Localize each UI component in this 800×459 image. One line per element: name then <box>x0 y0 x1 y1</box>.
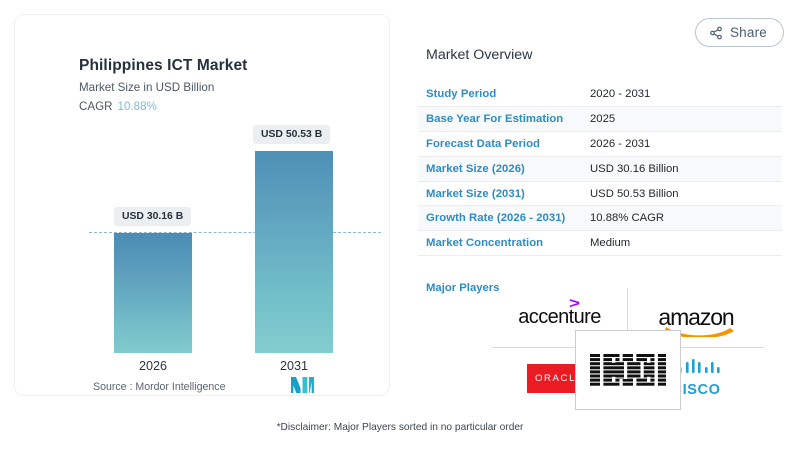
share-button[interactable]: Share <box>695 18 784 47</box>
row-key: Market Concentration <box>418 237 590 249</box>
row-key: Market Size (2031) <box>418 188 590 200</box>
mordor-intelligence-logo <box>291 377 315 398</box>
bar-2031 <box>255 151 333 353</box>
row-value: 2025 <box>590 113 615 125</box>
table-row: Study Period 2020 - 2031 <box>418 82 782 107</box>
xtick-2031: 2031 <box>255 359 333 373</box>
cagr-label: CAGR <box>79 100 113 113</box>
major-players-label: Major Players <box>426 282 499 294</box>
chart-plot-area: USD 30.16 B USD 50.53 B 2026 2031 <box>29 115 391 355</box>
row-value: USD 50.53 Billion <box>590 188 679 200</box>
chart-card: Philippines ICT Market Market Size in US… <box>14 14 390 396</box>
row-value: Medium <box>590 237 630 249</box>
xtick-2026: 2026 <box>114 359 192 373</box>
accenture-logo: accenture > <box>518 306 600 329</box>
table-row: Forecast Data Period 2026 - 2031 <box>418 132 782 157</box>
share-icon <box>709 26 723 40</box>
chart-title: Philippines ICT Market <box>79 57 247 75</box>
disclaimer-text: *Disclaimer: Major Players sorted in no … <box>0 422 800 433</box>
accenture-wordmark: accenture <box>518 306 600 328</box>
major-players-logo-grid: accenture > amazon ORACLE <box>492 288 764 408</box>
row-value: 2020 - 2031 <box>590 88 650 100</box>
row-key: Study Period <box>418 88 590 100</box>
screenshot-root: Share Philippines ICT Market Market Size… <box>0 0 800 459</box>
table-row: Market Size (2026) USD 30.16 Billion <box>418 157 782 182</box>
cagr-value: 10.88% <box>118 100 157 113</box>
logo-cell-ibm <box>575 330 681 410</box>
table-row: Base Year For Estimation 2025 <box>418 107 782 132</box>
row-key: Base Year For Estimation <box>418 113 590 125</box>
row-key: Market Size (2026) <box>418 163 590 175</box>
table-row: Market Concentration Medium <box>418 231 782 256</box>
share-button-label: Share <box>730 25 767 40</box>
bar-label-2031: USD 50.53 B <box>253 125 330 144</box>
bar-label-2026: USD 30.16 B <box>114 207 191 226</box>
row-value: 2026 - 2031 <box>590 138 650 150</box>
amazon-logo: amazon <box>658 306 733 329</box>
market-overview-table: Study Period 2020 - 2031 Base Year For E… <box>418 82 782 256</box>
chart-source: Source : Mordor Intelligence <box>93 381 226 393</box>
row-key: Growth Rate (2026 - 2031) <box>418 212 590 224</box>
chart-subtitle: Market Size in USD Billion <box>79 81 214 94</box>
row-key: Forecast Data Period <box>418 138 590 150</box>
chart-cagr: CAGR10.88% <box>79 100 157 113</box>
market-overview-title: Market Overview <box>426 47 532 63</box>
accenture-arrow-icon: > <box>569 295 579 312</box>
table-row: Growth Rate (2026 - 2031) 10.88% CAGR <box>418 206 782 231</box>
row-value: 10.88% CAGR <box>590 212 664 224</box>
row-value: USD 30.16 Billion <box>590 163 679 175</box>
table-row: Market Size (2031) USD 50.53 Billion <box>418 182 782 207</box>
ibm-logo <box>590 354 666 386</box>
bar-2026 <box>114 233 192 353</box>
